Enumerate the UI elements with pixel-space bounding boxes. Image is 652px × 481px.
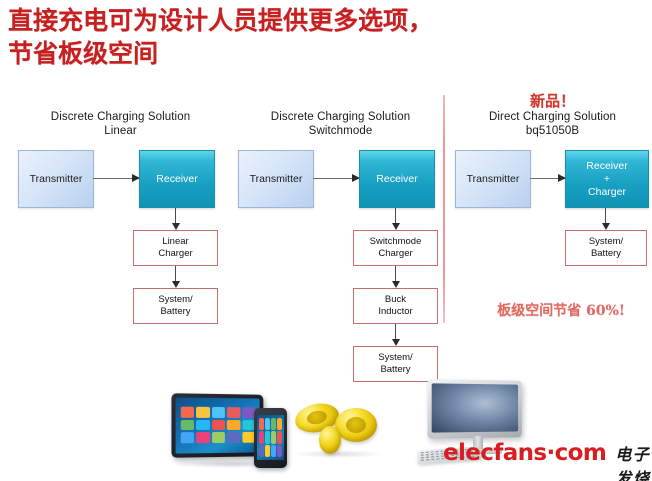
column-heading: Discrete Charging Solution Linear	[18, 110, 223, 138]
transmitter-box: Transmitter	[455, 150, 531, 208]
phone-screen	[257, 415, 284, 460]
new-product-badge: 新品！	[455, 90, 650, 111]
earbud	[335, 408, 377, 442]
slide-canvas: 直接充电可为设计人员提供更多选项， 节省板级空间 新品！ Discrete Ch…	[0, 0, 652, 481]
earbuds-photo	[293, 396, 378, 458]
flow-arrow-icon	[18, 266, 223, 288]
watermark-chinese: 电子发烧友	[615, 441, 652, 481]
transmit-arrow-icon	[93, 177, 139, 179]
diagram-column-direct-charging: Direct Charging Solution bq51050B Transm…	[455, 110, 650, 266]
receiver-box: Receiver	[139, 150, 215, 208]
stage-box-system-battery: System/ Battery	[565, 230, 647, 266]
stage-box-buck-inductor: Buck Inductor	[353, 288, 438, 324]
watermark: elecfans·com 电子发烧友	[443, 440, 652, 470]
savings-callout: 板级空间节省 60%!	[470, 300, 652, 320]
stage-box-system-battery: System/ Battery	[353, 346, 438, 382]
transmitter-receiver-row: Transmitter Receiver	[18, 150, 223, 208]
slide-title: 直接充电可为设计人员提供更多选项， 节省板级空间	[8, 4, 628, 70]
watermark-english: elecfans·com	[443, 440, 606, 466]
flow-arrow-icon	[238, 208, 443, 230]
transmitter-receiver-row: Transmitter Receiver + Charger	[455, 150, 650, 208]
smartphone-device	[254, 408, 287, 468]
monitor-screen	[432, 383, 518, 432]
flow-arrow-icon	[18, 208, 223, 230]
stage-box-system-battery: System/ Battery	[133, 288, 218, 324]
stage-box-charger: Switchmode Charger	[353, 230, 438, 266]
tablet-screen	[176, 397, 260, 453]
photo-shadow	[293, 450, 383, 458]
flow-arrow-icon	[238, 324, 443, 346]
product-photo-strip: elecfans·com 电子发烧友	[0, 378, 652, 481]
transmit-arrow-icon	[313, 177, 359, 179]
tablet-and-phone-photo	[172, 388, 290, 466]
stage-box-charger: Linear Charger	[133, 230, 218, 266]
transmitter-box: Transmitter	[238, 150, 314, 208]
earbud	[319, 426, 341, 454]
column-heading: Direct Charging Solution bq51050B	[455, 110, 650, 138]
column-heading: Discrete Charging Solution Switchmode	[238, 110, 443, 138]
diagram-column-discrete-linear: Discrete Charging Solution Linear Transm…	[18, 110, 223, 324]
flow-arrow-icon	[455, 208, 650, 230]
receiver-box: Receiver	[359, 150, 435, 208]
tablet-device	[171, 393, 263, 458]
receiver-charger-box: Receiver + Charger	[565, 150, 649, 208]
monitor	[427, 379, 521, 439]
transmitter-receiver-row: Transmitter Receiver	[238, 150, 443, 208]
vertical-divider	[443, 95, 445, 323]
transmitter-box: Transmitter	[18, 150, 94, 208]
transmit-arrow-icon	[530, 177, 565, 179]
diagram-column-discrete-switchmode: Discrete Charging Solution Switchmode Tr…	[238, 110, 443, 382]
flow-arrow-icon	[238, 266, 443, 288]
